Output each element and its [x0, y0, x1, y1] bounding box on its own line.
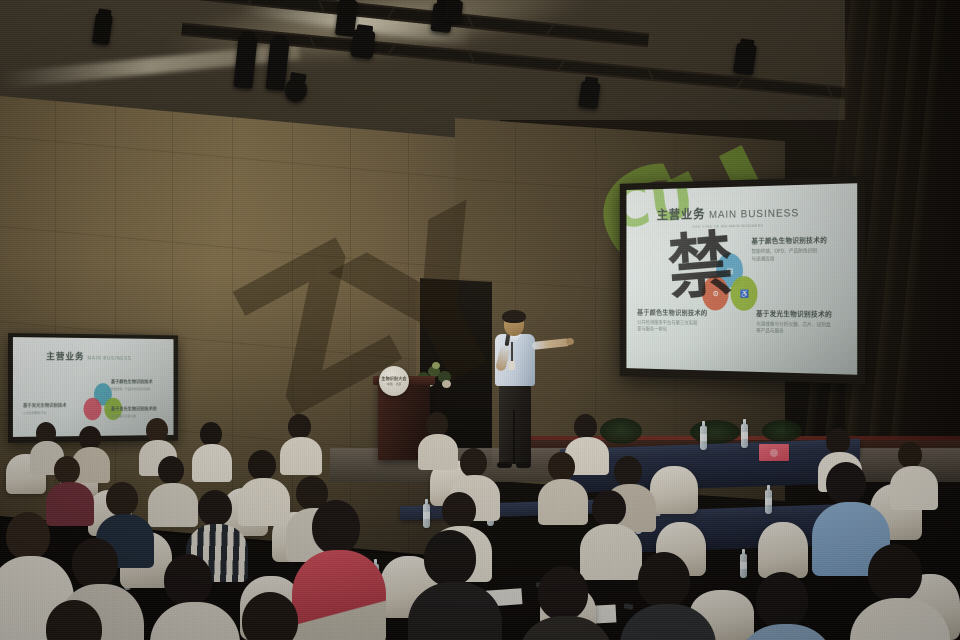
slide-block-bottom-right: 基于发光生物识别技术的 光谱成像与分析仪器、芯片、试剂盒 等产品与服务 [756, 309, 832, 338]
stage-light-fixture [350, 29, 375, 59]
torso [148, 483, 198, 527]
water-bottle [740, 554, 747, 578]
side-block-heading: 基于颜色生物识别技术 [111, 379, 153, 385]
side-slide-title: 主营业务 MAIN BUSINESS [46, 349, 131, 362]
head [898, 442, 922, 468]
slide-watermark-char: 禁 [666, 229, 735, 304]
head [538, 566, 588, 620]
smartphone [624, 603, 634, 609]
head [756, 572, 808, 628]
slide-title: 主营业务 MAIN BUSINESS [657, 202, 799, 223]
stage-light-fixture [733, 43, 757, 75]
head [72, 538, 118, 588]
head [200, 422, 222, 446]
presenter-arm-right [532, 338, 571, 350]
head [146, 418, 168, 442]
presenter-glasses [505, 321, 523, 326]
head [198, 490, 232, 526]
podium-sign-line2: 中国 · 北京 [387, 382, 402, 386]
side-slide-title-cn: 主营业务 [46, 349, 84, 362]
head [574, 414, 597, 439]
slide-block-body: 光谱成像与分析仪器、芯片、试剂盒 等产品与服务 [756, 321, 832, 337]
head [288, 414, 311, 439]
head [164, 554, 212, 606]
water-bottle [765, 490, 772, 514]
head [106, 482, 138, 516]
presenter-lanyard [511, 342, 513, 362]
head [826, 462, 866, 504]
slide-block-top-right: 基于颜色生物识别技术的 智能终端、OFD、产品防伪识别 与追溯应用 [752, 235, 828, 264]
torso [192, 444, 232, 482]
head [6, 512, 50, 560]
conference-photo: Z Y C U C CU 主营业务 MAIN BUSINESS ZHU YING… [0, 0, 960, 640]
torso [46, 482, 94, 526]
torso [580, 524, 642, 580]
side-slide-title-en: MAIN BUSINESS [87, 356, 131, 362]
head [638, 552, 690, 608]
slide-block-body: 公共检测服务平台与第三方实验 室与服务一体化 [637, 320, 707, 336]
head [460, 448, 487, 477]
main-projection-screen: CU 主营业务 MAIN BUSINESS ZHU YING YE WU MAI… [620, 176, 865, 384]
slide-block-body: 智能终端、OFD、产品防伪识别 与追溯应用 [752, 248, 828, 264]
presenter-hand-right [566, 338, 574, 345]
water-bottle [741, 424, 748, 448]
head [592, 490, 626, 526]
head [548, 452, 575, 481]
chair-back [650, 466, 698, 514]
torso [890, 466, 938, 510]
torso [292, 550, 386, 640]
head [54, 456, 80, 484]
head [248, 450, 276, 480]
torso [238, 478, 290, 526]
water-bottle [700, 426, 707, 450]
slide-title-cn: 主营业务 [657, 204, 706, 223]
torso [418, 434, 458, 470]
slide-title-en: MAIN BUSINESS [709, 208, 799, 221]
head [158, 456, 184, 484]
torso [150, 602, 240, 640]
head [442, 492, 476, 528]
podium-sign: 生物识别大会 中国 · 北京 [379, 366, 409, 396]
head [312, 500, 360, 554]
head [826, 428, 850, 454]
audience-area [0, 404, 960, 640]
stage-light-fixture [578, 81, 600, 109]
red-envelope [759, 444, 789, 461]
main-slide: CU 主营业务 MAIN BUSINESS ZHU YING YE WU MAI… [626, 183, 857, 375]
chair-back [758, 522, 808, 578]
side-block-body: 智能终端、产品防伪识别与追溯 [111, 387, 153, 392]
head [426, 412, 448, 436]
head [868, 544, 922, 602]
stage-light-fixture [443, 0, 464, 23]
water-bottle [423, 504, 430, 528]
slide-block-bottom-left: 基于颜色生物识别技术的 公共检测服务平台与第三方实验 室与服务一体化 [637, 308, 707, 336]
head [614, 456, 642, 486]
slide-block-heading: 基于发光生物识别技术的 [756, 309, 832, 320]
slide-block-heading: 基于颜色生物识别技术的 [752, 235, 828, 246]
torso [538, 479, 588, 525]
torso [280, 437, 322, 475]
presenter-badge [508, 361, 515, 370]
side-block-top-right: 基于颜色生物识别技术 智能终端、产品防伪识别与追溯 [111, 379, 153, 391]
head [424, 530, 476, 586]
